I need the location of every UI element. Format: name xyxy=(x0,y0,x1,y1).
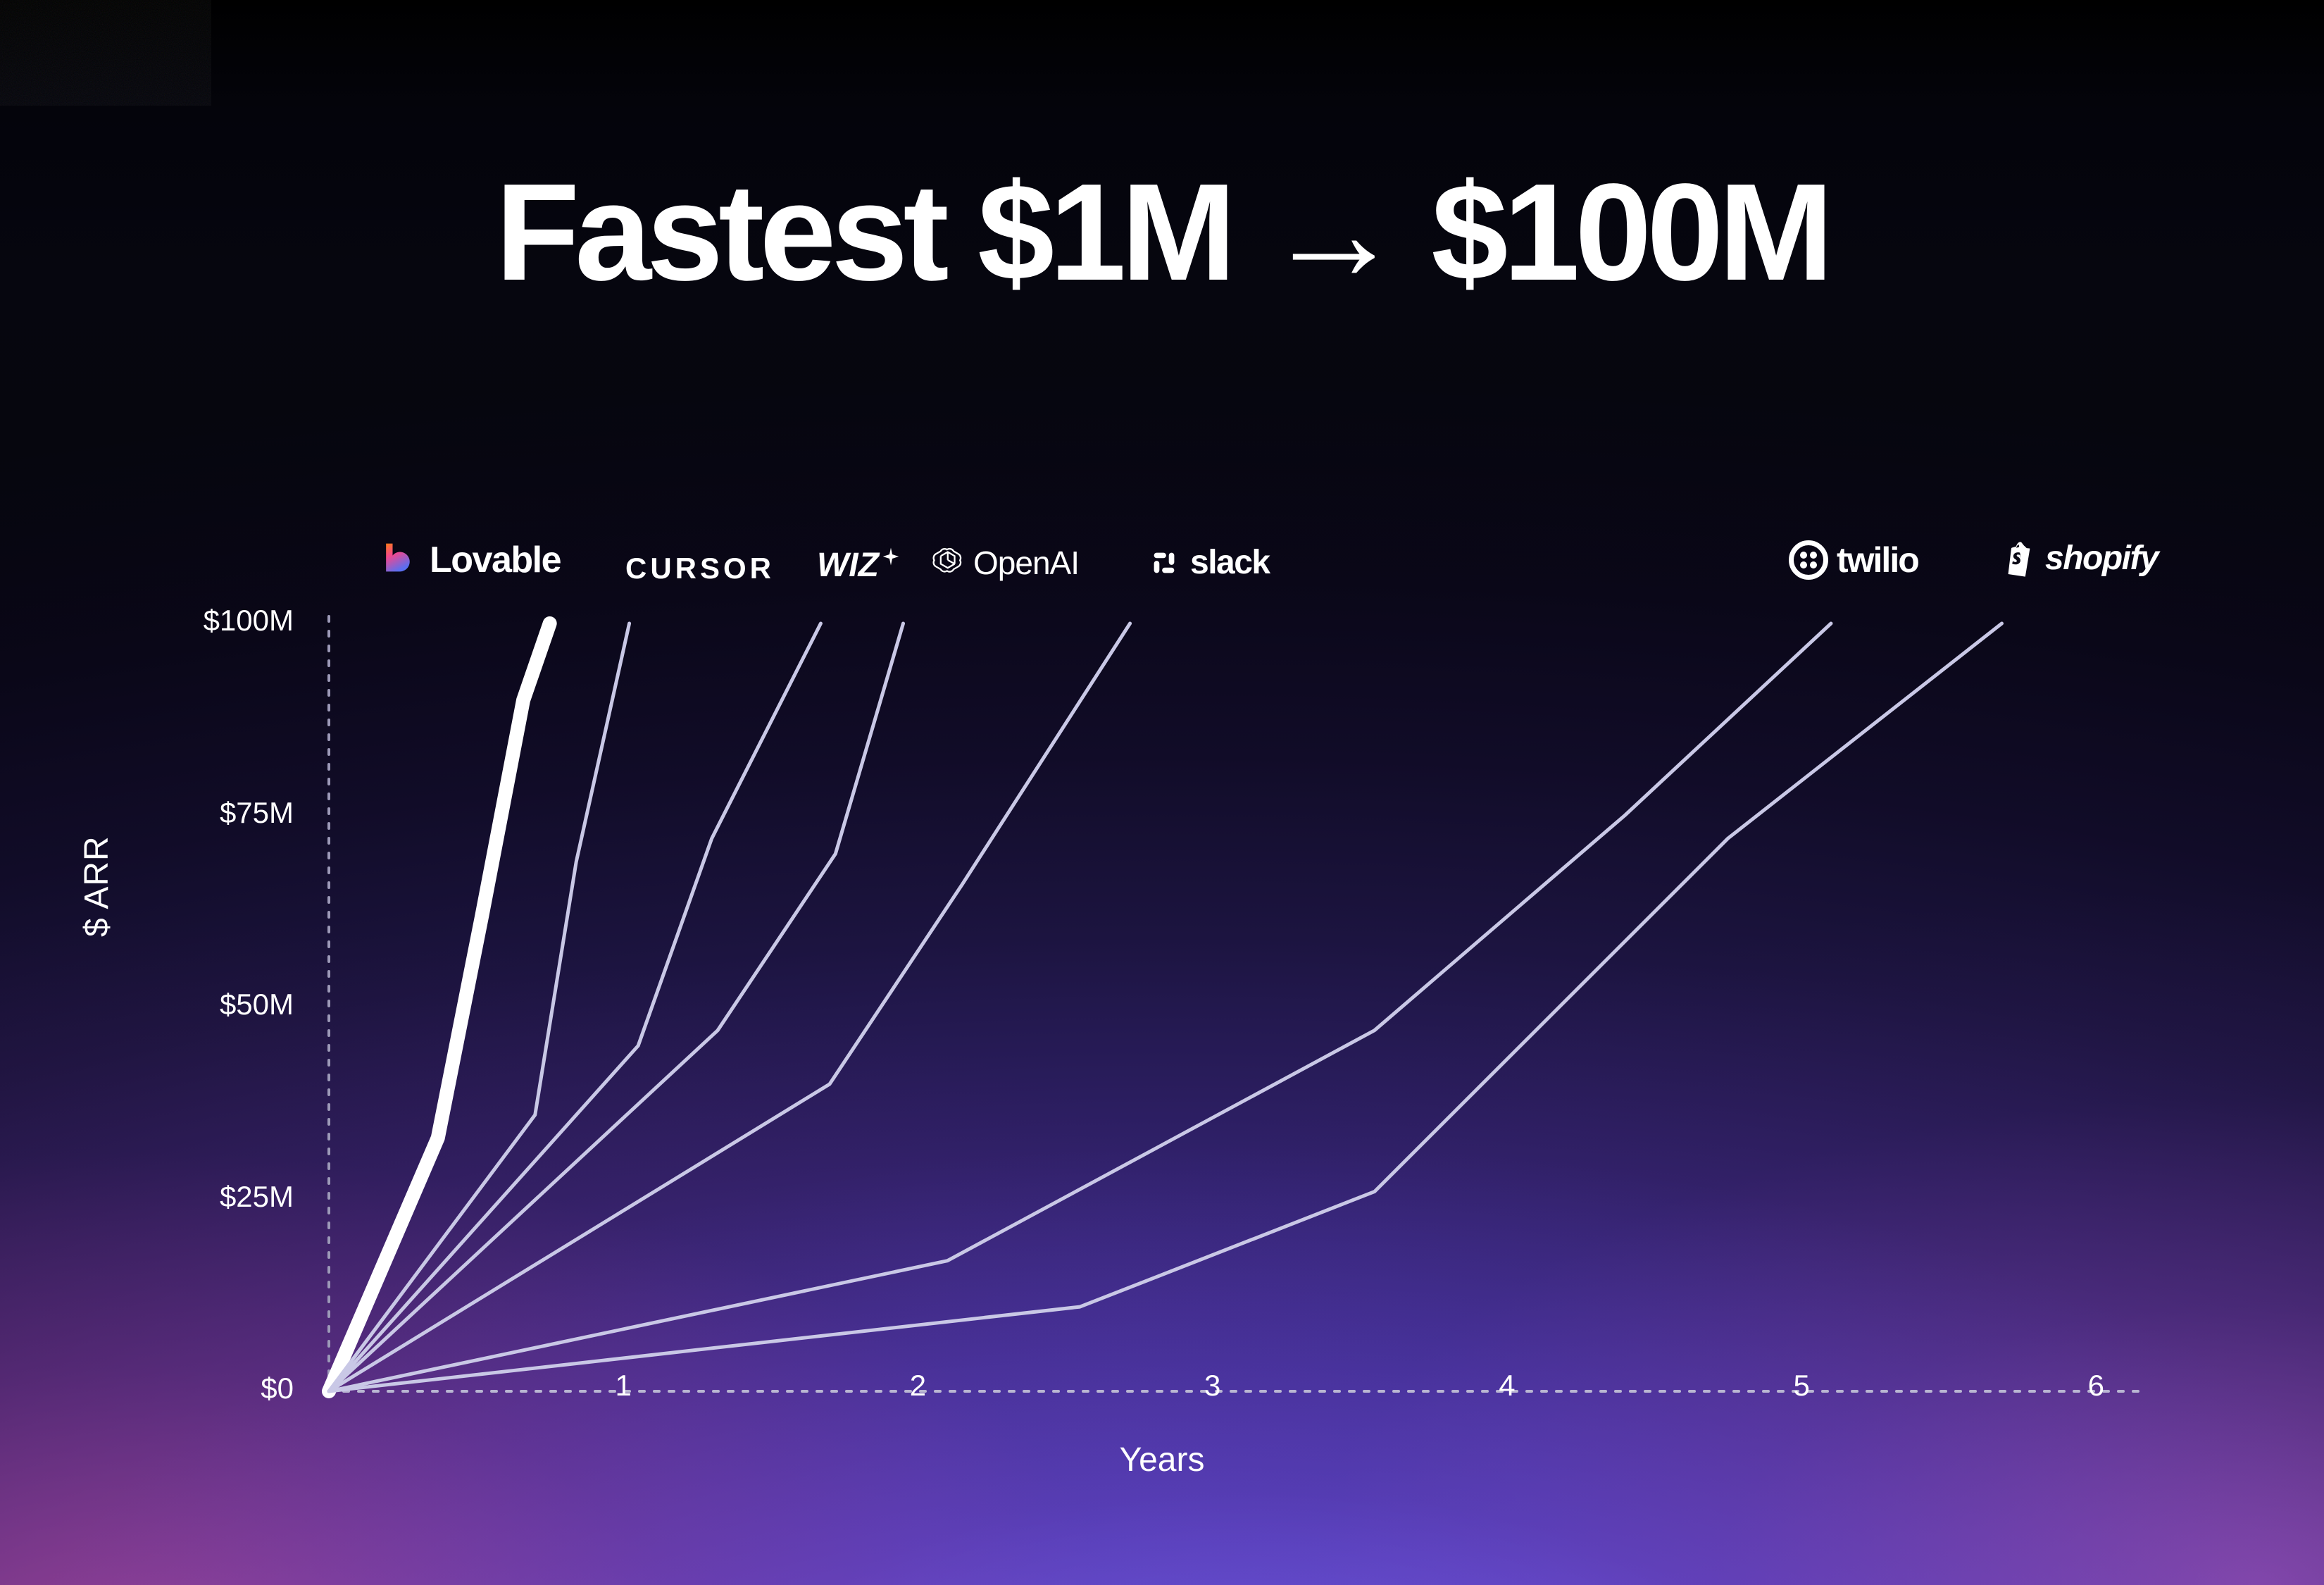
x-axis-tick-label: 1 xyxy=(581,1369,666,1403)
x-axis-title: Years xyxy=(0,1441,2324,1479)
y-axis-tick-label: $75M xyxy=(125,796,294,830)
x-axis-tick-label: 4 xyxy=(1465,1369,1549,1403)
chart-canvas: Fastest $1M → $100M Lovable CURSOR WIZ O… xyxy=(0,0,2324,1585)
y-axis-tick-label: $100M xyxy=(125,604,294,638)
x-axis-tick-label: 2 xyxy=(875,1369,960,1403)
x-axis-tick-label: 3 xyxy=(1170,1369,1255,1403)
series-line-shopify xyxy=(329,623,2002,1391)
y-axis-tick-label: $0 xyxy=(125,1372,294,1405)
line-chart-plot xyxy=(0,0,2324,1585)
chart-gridlines xyxy=(329,616,2140,1391)
y-axis-title: $ ARR xyxy=(77,835,116,937)
x-axis-tick-label: 5 xyxy=(1759,1369,1844,1403)
y-axis-tick-label: $50M xyxy=(125,988,294,1021)
chart-series-group xyxy=(329,623,2002,1391)
series-line-wiz xyxy=(329,623,820,1391)
x-axis-tick-label: 6 xyxy=(2054,1369,2138,1403)
y-axis-tick-label: $25M xyxy=(125,1180,294,1214)
series-line-slack xyxy=(329,623,1130,1391)
